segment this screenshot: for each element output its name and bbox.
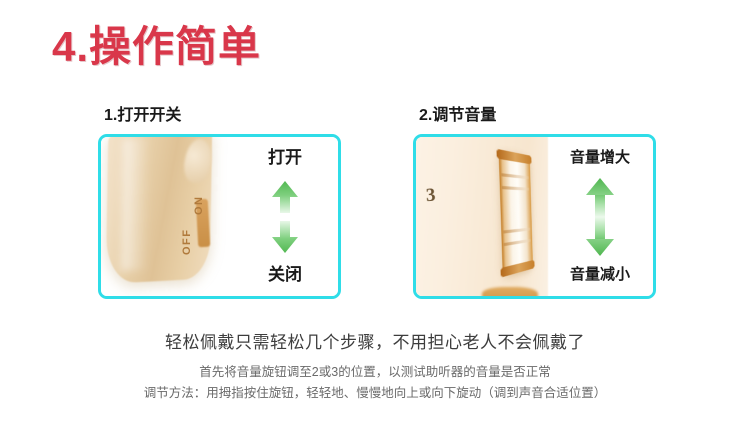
- wheel-ridge: [501, 173, 528, 179]
- bottom-detail-line-2: 调节方法：用拇指按住旋钮，轻轻地、慢慢地向上或向下旋动（调到声音合适位置）: [0, 384, 750, 403]
- step-2-caption-bottom: 音量减小: [570, 265, 630, 285]
- volume-wheel-value: 3: [425, 185, 436, 208]
- step-1-photo: ON OFF: [101, 137, 236, 296]
- step-1-arrow-group: [268, 168, 302, 265]
- wheel-ridge: [504, 239, 531, 246]
- bottom-lead-text: 轻松佩戴只需轻松几个步骤，不用担心老人不会佩戴了: [0, 330, 750, 356]
- step-1-caption-bottom: 关闭: [268, 265, 302, 285]
- page-title: 4.操作简单: [52, 26, 261, 68]
- step-card-1: 1.打开开关 ON OFF 打开: [98, 106, 341, 299]
- step-2-label: 2.调节音量: [419, 106, 656, 126]
- double-headed-vertical-arrow-icon: [583, 177, 617, 257]
- volume-wheel-image: [499, 149, 533, 277]
- hearing-aid-foot: [482, 287, 538, 296]
- step-1-caption-top: 打开: [268, 148, 302, 168]
- step-1-captions: 打开: [236, 137, 338, 296]
- step-2-captions: 音量增大: [551, 137, 653, 296]
- step-2-arrow-group: [583, 168, 617, 265]
- switch-on-label: ON: [193, 196, 205, 216]
- bottom-copy: 轻松佩戴只需轻松几个步骤，不用担心老人不会佩戴了 首先将音量旋钮调至2或3的位置…: [0, 330, 750, 403]
- switch-off-label: OFF: [181, 229, 193, 256]
- step-card-2: 2.调节音量 3 音量增大: [413, 106, 656, 299]
- bottom-detail-line-1: 首先将音量旋钮调至2或3的位置，以测试助听器的音量是否正常: [0, 363, 750, 382]
- wheel-ridge: [502, 186, 529, 191]
- step-1-panel: ON OFF 打开: [98, 134, 341, 299]
- step-1-label: 1.打开开关: [104, 106, 341, 126]
- step-2-caption-top: 音量增大: [570, 148, 630, 168]
- steps-container: 1.打开开关 ON OFF 打开: [0, 106, 750, 311]
- double-headed-vertical-arrow-icon: [268, 180, 302, 254]
- step-2-panel: 3 音量增大: [413, 134, 656, 299]
- wheel-ridge: [503, 228, 530, 234]
- step-2-photo: 3: [416, 137, 551, 296]
